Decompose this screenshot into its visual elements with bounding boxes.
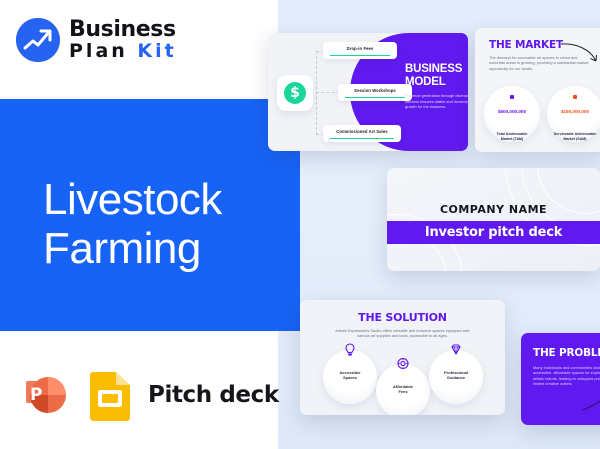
title-line-2: MODEL: [405, 76, 468, 89]
brand-wordmark: Business Plan Kit: [69, 19, 177, 61]
solution-node-label: Professional Guidance: [429, 370, 483, 380]
solution-node[interactable]: Affordable Fees: [376, 364, 430, 415]
company-name-subtitle: Investor pitch deck: [387, 221, 600, 244]
metric-dot: [510, 95, 514, 99]
brand-kit-word: Kit: [137, 40, 176, 62]
format-row: P Pitch deck: [18, 367, 279, 423]
title-line-1: BUSINESS: [405, 63, 468, 76]
brand-line-1: Business: [69, 19, 177, 41]
slide-the-problem[interactable]: THE PROBLEM Many individuals and communi…: [521, 333, 600, 425]
page-title-line-1: Livestock: [43, 175, 222, 224]
problem-body: Many individuals and communities lack ac…: [533, 365, 600, 387]
problem-title: THE PROBLEM: [533, 347, 600, 359]
metric-caption: Total Addressable Market (TAM): [484, 132, 540, 141]
business-model-node[interactable]: Commissioned Art Sales: [323, 125, 401, 142]
curved-arrow-icon: [581, 395, 600, 413]
market-metric: $150,000,000 Serviceable Addressable Mar…: [547, 86, 600, 142]
svg-text:P: P: [30, 385, 42, 405]
solution-node-label: Accessible Spaces: [323, 370, 377, 380]
market-metric: $500,000,000 Total Addressable Market (T…: [484, 86, 540, 142]
diamond-icon: [450, 343, 462, 357]
business-model-body: Revenue generation through diverse strea…: [405, 93, 468, 110]
company-name-band: Investor pitch deck: [387, 221, 600, 244]
metric-value: $500,000,000: [484, 109, 540, 114]
market-title: THE MARKET: [489, 39, 563, 51]
google-slides-icon: [86, 369, 134, 421]
solution-title: THE SOLUTION: [300, 311, 505, 324]
solution-node-label: Affordable Fees: [376, 384, 430, 394]
curved-arrow-icon: [559, 41, 599, 67]
connector-vertical: [316, 51, 317, 135]
business-model-title: BUSINESS MODEL: [405, 63, 468, 88]
brand-logo: Business Plan Kit: [16, 18, 177, 62]
node-label: Drop-in Fees: [323, 46, 397, 51]
brand-line-2: Plan Kit: [69, 42, 177, 61]
powerpoint-icon: P: [18, 367, 74, 423]
metric-value: $150,000,000: [547, 109, 600, 114]
connector-middle: [316, 92, 340, 93]
node-label: Commissioned Art Sales: [323, 129, 401, 134]
slide-the-solution[interactable]: THE SOLUTION Artistic Expressions Studio…: [300, 300, 505, 415]
brand-plan-word: Plan: [69, 40, 128, 62]
business-model-node[interactable]: Session Workshops: [338, 84, 412, 101]
page-title: Livestock Farming: [43, 175, 222, 273]
business-model-node[interactable]: Drop-in Fees: [323, 42, 397, 59]
solution-node[interactable]: Professional Guidance: [429, 350, 483, 404]
slide-business-model[interactable]: $ Drop-in Fees Session Workshops Commiss…: [268, 33, 468, 151]
node-label: Session Workshops: [338, 88, 412, 93]
metric-dot: [573, 95, 577, 99]
solution-node[interactable]: Accessible Spaces: [323, 350, 377, 404]
slide-company-name[interactable]: COMPANY NAME Investor pitch deck: [387, 168, 600, 271]
slide-the-market[interactable]: THE MARKET The demand for accessible art…: [475, 28, 600, 152]
solution-body: Artistic Expressions Studio offers versa…: [334, 328, 471, 339]
growth-arrow-circle-icon: [16, 18, 60, 62]
format-label: Pitch deck: [148, 382, 279, 408]
company-name-title: COMPANY NAME: [387, 203, 600, 216]
gear-circle-icon: [397, 357, 409, 371]
poster-canvas: Business Plan Kit Livestock Farming P: [0, 0, 600, 449]
page-title-line-2: Farming: [43, 224, 222, 273]
lightbulb-icon: [344, 343, 356, 357]
metric-caption: Serviceable Addressable Market (SAM): [547, 132, 600, 141]
dollar-coin-icon: $: [277, 75, 313, 111]
